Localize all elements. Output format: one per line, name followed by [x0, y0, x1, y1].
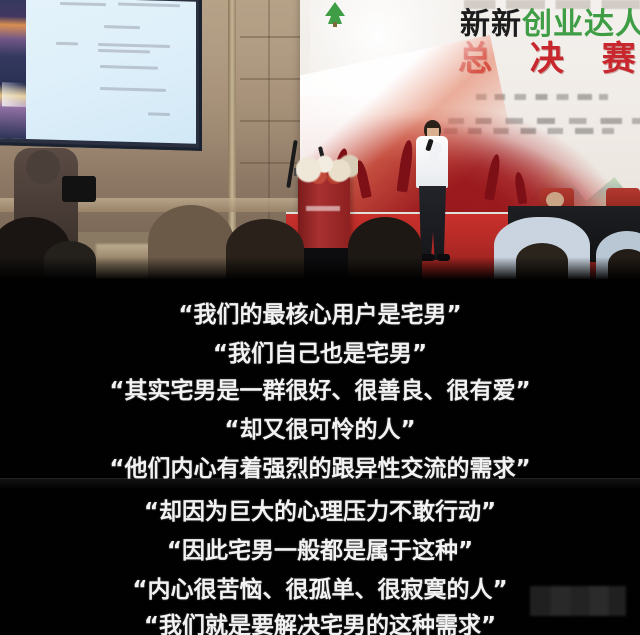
slide-text-line [56, 42, 78, 46]
podium-label [306, 206, 340, 211]
slide-text-line [60, 2, 106, 6]
slide-text-line [148, 112, 170, 116]
slide-text-line [100, 65, 158, 70]
backdrop-title-green-part: 创业达人 [522, 7, 640, 42]
subtitle-line: “其实宅男是一群很好、很善良、很有爱” [0, 371, 640, 405]
photo-bottom-fade [0, 257, 640, 279]
projection-screen-surface [0, 0, 196, 144]
camera-operator-head [26, 150, 60, 184]
subtitle-panel: “我们的最核心用户是宅男” “我们自己也是宅男” “其实宅男是一群很好、很善良、… [0, 279, 640, 635]
video-camera [62, 176, 96, 202]
slide-text-line [118, 3, 180, 8]
subtitle-line: “却又很可怜的人” [0, 410, 640, 444]
event-logo-icon [318, 0, 352, 28]
subtitle-line: “因此宅男一般都是属于这种” [0, 531, 640, 565]
subtitle-line: “我们的最核心用户是宅男” [0, 295, 640, 329]
screenshot-root: 新新创业达人 总 决 赛 [0, 0, 640, 635]
slide-color-panel [0, 0, 26, 139]
slide-text-line [100, 87, 166, 92]
subtitle-line: “他们内心有着强烈的跟异性交流的需求” [0, 449, 640, 483]
subtitle-line: “却因为巨大的心理压力不敢行动” [0, 492, 640, 526]
podium [298, 172, 350, 260]
flower-arrangement [296, 152, 358, 184]
slide-text-line [98, 43, 170, 48]
slide-text-line [98, 49, 150, 53]
conference-photo: 新新创业达人 总 决 赛 [0, 0, 640, 279]
slide-text-line [104, 25, 140, 29]
backdrop-title-black-part: 新新 [460, 7, 522, 42]
blurred-watermark [530, 586, 626, 616]
subtitle-line: “我们自己也是宅男” [0, 334, 640, 368]
projection-screen [0, 0, 202, 151]
